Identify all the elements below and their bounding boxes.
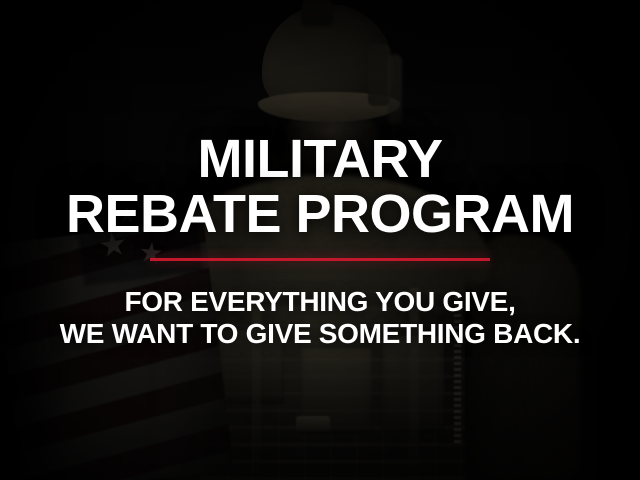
subheadline-line-2: WE WANT TO GIVE SOMETHING BACK.	[60, 319, 581, 348]
subheadline-line-1: FOR EVERYTHING YOU GIVE,	[124, 287, 515, 316]
red-divider-rule	[150, 258, 490, 261]
headline-line-2: REBATE PROGRAM	[66, 188, 574, 241]
military-rebate-program-banner: MILITARY REBATE PROGRAM FOR EVERYTHING Y…	[0, 0, 640, 480]
headline-line-1: MILITARY	[198, 133, 443, 186]
text-overlay: MILITARY REBATE PROGRAM FOR EVERYTHING Y…	[0, 0, 640, 480]
